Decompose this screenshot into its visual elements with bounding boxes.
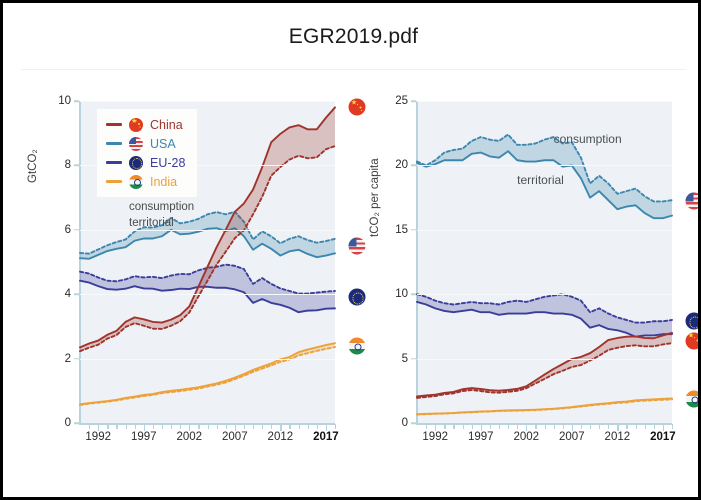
x-tick-mark bbox=[581, 424, 582, 429]
x-tick-mark bbox=[526, 424, 527, 431]
x-tick-mark bbox=[481, 424, 482, 431]
x-tick-mark bbox=[453, 424, 454, 429]
x-tick-label: 2007 bbox=[222, 431, 248, 443]
x-tick-mark bbox=[617, 424, 618, 431]
y-tick-mark bbox=[74, 165, 79, 167]
flag-eu-icon bbox=[686, 313, 701, 330]
x-tick-mark bbox=[153, 424, 154, 429]
x-tick-mark bbox=[217, 424, 218, 429]
x-tick-mark bbox=[262, 424, 263, 429]
x-tick-mark bbox=[135, 424, 136, 429]
x-tick-mark bbox=[517, 424, 518, 429]
y-tick-label: 4 bbox=[39, 288, 71, 300]
x-tick-mark bbox=[180, 424, 181, 429]
line-style-item-consumption: consumption bbox=[102, 199, 194, 215]
legend-item-usa[interactable]: USA bbox=[106, 134, 185, 153]
x-tick-mark bbox=[554, 424, 555, 429]
y-tick-mark bbox=[74, 100, 79, 102]
x-tick-mark bbox=[162, 424, 163, 429]
x-tick-mark bbox=[89, 424, 90, 429]
gridline bbox=[417, 294, 672, 295]
x-tick-mark bbox=[107, 424, 108, 429]
x-tick-mark bbox=[463, 424, 464, 429]
y-tick-label: 25 bbox=[376, 95, 408, 107]
x-tick-mark bbox=[499, 424, 500, 429]
gridline bbox=[80, 359, 335, 360]
plot-area-right bbox=[417, 101, 672, 423]
x-tick-mark bbox=[244, 424, 245, 429]
x-tick-mark bbox=[545, 424, 546, 429]
legend-color-swatch bbox=[106, 123, 122, 126]
y-tick-mark bbox=[411, 422, 416, 424]
y-tick-label: 10 bbox=[39, 95, 71, 107]
y-axis-label: GtCO₂ bbox=[27, 149, 39, 183]
y-tick-label: 20 bbox=[376, 159, 408, 171]
x-tick-mark bbox=[271, 424, 272, 429]
y-tick-label: 10 bbox=[376, 288, 408, 300]
flag-india-icon bbox=[349, 337, 366, 354]
x-tick-label: 1997 bbox=[131, 431, 157, 443]
y-tick-label: 2 bbox=[39, 353, 71, 365]
line-style-legend: consumptionterritorial bbox=[102, 199, 194, 231]
y-tick-mark bbox=[74, 422, 79, 424]
x-tick-mark bbox=[654, 424, 655, 429]
flag-china-icon bbox=[129, 118, 143, 132]
x-tick-mark bbox=[335, 424, 336, 429]
x-tick-mark bbox=[144, 424, 145, 431]
legend-color-swatch bbox=[106, 180, 122, 183]
chart-emissions-per-capita: tCO₂ per capita 051015202519921997200220… bbox=[371, 87, 701, 447]
x-tick-mark bbox=[326, 424, 327, 431]
x-tick-label: 2007 bbox=[559, 431, 585, 443]
x-tick-mark bbox=[672, 424, 673, 429]
y-tick-mark bbox=[74, 229, 79, 231]
y-axis-line bbox=[79, 101, 81, 423]
y-tick-label: 15 bbox=[376, 224, 408, 236]
y-tick-mark bbox=[74, 293, 79, 295]
flag-usa-icon bbox=[349, 237, 366, 254]
annotation-territorial: territorial bbox=[517, 173, 564, 187]
y-axis-line bbox=[416, 101, 418, 423]
x-tick-mark bbox=[317, 424, 318, 429]
legend-item-india[interactable]: India bbox=[106, 172, 185, 191]
x-tick-label: 1992 bbox=[85, 431, 111, 443]
x-tick-mark bbox=[171, 424, 172, 429]
gridline bbox=[417, 359, 672, 360]
y-tick-mark bbox=[411, 358, 416, 360]
x-tick-mark bbox=[426, 424, 427, 429]
x-tick-mark bbox=[444, 424, 445, 429]
legend-item-label: India bbox=[150, 175, 177, 189]
gridline bbox=[417, 230, 672, 231]
x-tick-label: 1997 bbox=[468, 431, 494, 443]
x-tick-mark bbox=[208, 424, 209, 429]
x-tick-mark bbox=[198, 424, 199, 429]
legend-item-label: China bbox=[150, 118, 183, 132]
x-tick-label: 2002 bbox=[176, 431, 202, 443]
page-title: EGR2019.pdf bbox=[3, 25, 701, 49]
x-tick-mark bbox=[535, 424, 536, 429]
gridline bbox=[417, 165, 672, 166]
x-tick-mark bbox=[590, 424, 591, 429]
x-tick-label: 2017 bbox=[313, 431, 339, 443]
legend-item-china[interactable]: China bbox=[106, 115, 185, 134]
y-tick-label: 8 bbox=[39, 159, 71, 171]
y-tick-mark bbox=[74, 358, 79, 360]
line-style-item-territorial: territorial bbox=[102, 215, 194, 231]
x-tick-mark bbox=[235, 424, 236, 431]
x-tick-mark bbox=[289, 424, 290, 429]
x-tick-mark bbox=[626, 424, 627, 429]
x-tick-mark bbox=[572, 424, 573, 431]
flag-india-icon bbox=[686, 390, 701, 407]
chart-emissions-absolute: GtCO₂ 0246810199219972002200720122017 Ch… bbox=[29, 87, 359, 447]
flag-eu-icon bbox=[349, 289, 366, 306]
y-tick-label: 0 bbox=[376, 417, 408, 429]
x-tick-mark bbox=[435, 424, 436, 431]
flag-usa-icon bbox=[686, 193, 701, 210]
flag-usa-icon bbox=[129, 137, 143, 151]
x-tick-label: 2017 bbox=[650, 431, 676, 443]
title-divider bbox=[21, 69, 686, 70]
legend-item-label: EU-28 bbox=[150, 156, 185, 170]
gridline bbox=[80, 294, 335, 295]
y-tick-mark bbox=[411, 293, 416, 295]
x-tick-label: 2002 bbox=[513, 431, 539, 443]
legend-item-eu-28[interactable]: EU-28 bbox=[106, 153, 185, 172]
x-tick-mark bbox=[563, 424, 564, 429]
line-style-label: territorial bbox=[129, 217, 174, 229]
legend-color-swatch bbox=[106, 142, 122, 145]
x-tick-mark bbox=[308, 424, 309, 429]
gridline bbox=[80, 101, 335, 102]
x-tick-mark bbox=[490, 424, 491, 429]
annotation-consumption: consumption bbox=[554, 132, 622, 146]
x-tick-mark bbox=[645, 424, 646, 429]
y-tick-label: 0 bbox=[39, 417, 71, 429]
y-tick-mark bbox=[411, 100, 416, 102]
pdf-viewer: EGR2019.pdf GtCO₂ 0246810199219972002200… bbox=[0, 0, 701, 500]
x-tick-mark bbox=[599, 424, 600, 429]
line-style-label: consumption bbox=[129, 201, 194, 213]
x-tick-label: 1992 bbox=[422, 431, 448, 443]
legend-item-label: USA bbox=[150, 137, 176, 151]
x-tick-mark bbox=[253, 424, 254, 429]
x-tick-mark bbox=[98, 424, 99, 431]
x-tick-mark bbox=[636, 424, 637, 429]
flag-china-icon bbox=[349, 99, 366, 116]
x-tick-label: 2012 bbox=[268, 431, 294, 443]
x-tick-mark bbox=[280, 424, 281, 431]
y-tick-label: 5 bbox=[376, 353, 408, 365]
series-legend: ChinaUSAEU-28India bbox=[97, 109, 197, 197]
x-tick-label: 2012 bbox=[605, 431, 631, 443]
legend-color-swatch bbox=[106, 161, 122, 164]
x-tick-mark bbox=[189, 424, 190, 431]
flag-eu-icon bbox=[129, 156, 143, 170]
x-tick-mark bbox=[126, 424, 127, 429]
x-tick-mark bbox=[116, 424, 117, 429]
flag-india-icon bbox=[129, 175, 143, 189]
x-tick-mark bbox=[508, 424, 509, 429]
x-tick-mark bbox=[472, 424, 473, 429]
y-tick-mark bbox=[411, 229, 416, 231]
gridline bbox=[417, 101, 672, 102]
x-tick-mark bbox=[226, 424, 227, 429]
y-tick-label: 6 bbox=[39, 224, 71, 236]
x-tick-mark bbox=[608, 424, 609, 429]
flag-china-icon bbox=[686, 332, 701, 349]
y-tick-mark bbox=[411, 165, 416, 167]
x-tick-mark bbox=[299, 424, 300, 429]
x-tick-mark bbox=[663, 424, 664, 431]
